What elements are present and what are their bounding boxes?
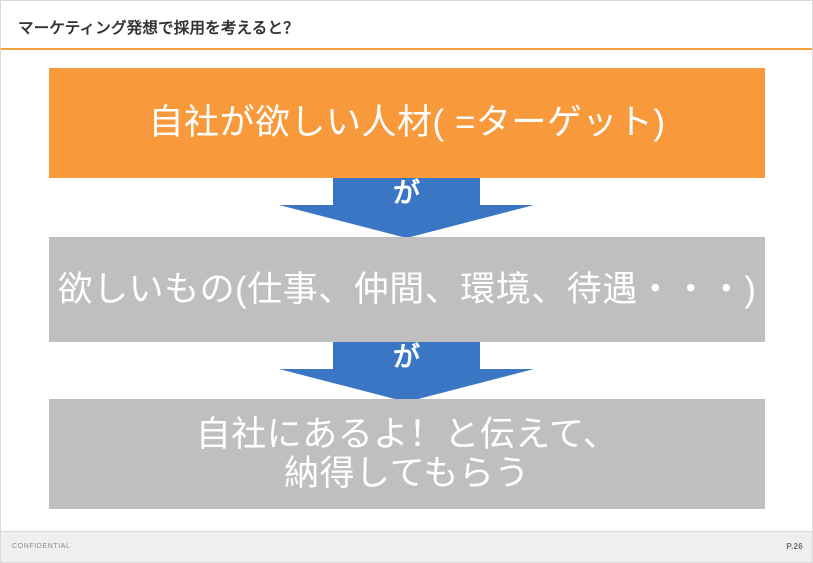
down-arrow-icon (279, 342, 534, 402)
flow-step-wants: 欲しいもの(仕事、仲間、環境、待遇・・・) (49, 237, 765, 342)
slide-canvas: マーケティング発想で採用を考えると？ 自社が欲しい人材( =ターゲット) が 欲… (0, 0, 813, 563)
slide-header: マーケティング発想で採用を考えると？ (1, 1, 813, 51)
flow-step-target-label: 自社が欲しい人材( =ターゲット) (141, 102, 674, 143)
title-divider (1, 48, 813, 50)
flow-connector-2: が (279, 342, 534, 402)
flow-step-target: 自社が欲しい人材( =ターゲット) (49, 68, 765, 178)
flow-step-convince-label: 自社にあるよ！と伝えて、 納得してもらう (188, 415, 627, 493)
down-arrow-icon (279, 178, 534, 238)
flow-step-wants-label: 欲しいもの(仕事、仲間、環境、待遇・・・) (50, 269, 765, 310)
page-number: P.26 (786, 542, 803, 551)
slide-footer: CONFIDENTIAL P.26 (1, 531, 813, 563)
flow-connector-1: が (279, 178, 534, 238)
page-title: マーケティング発想で採用を考えると？ (18, 20, 299, 39)
confidential-notice: CONFIDENTIAL (12, 543, 71, 550)
flow-step-convince: 自社にあるよ！と伝えて、 納得してもらう (49, 399, 765, 509)
